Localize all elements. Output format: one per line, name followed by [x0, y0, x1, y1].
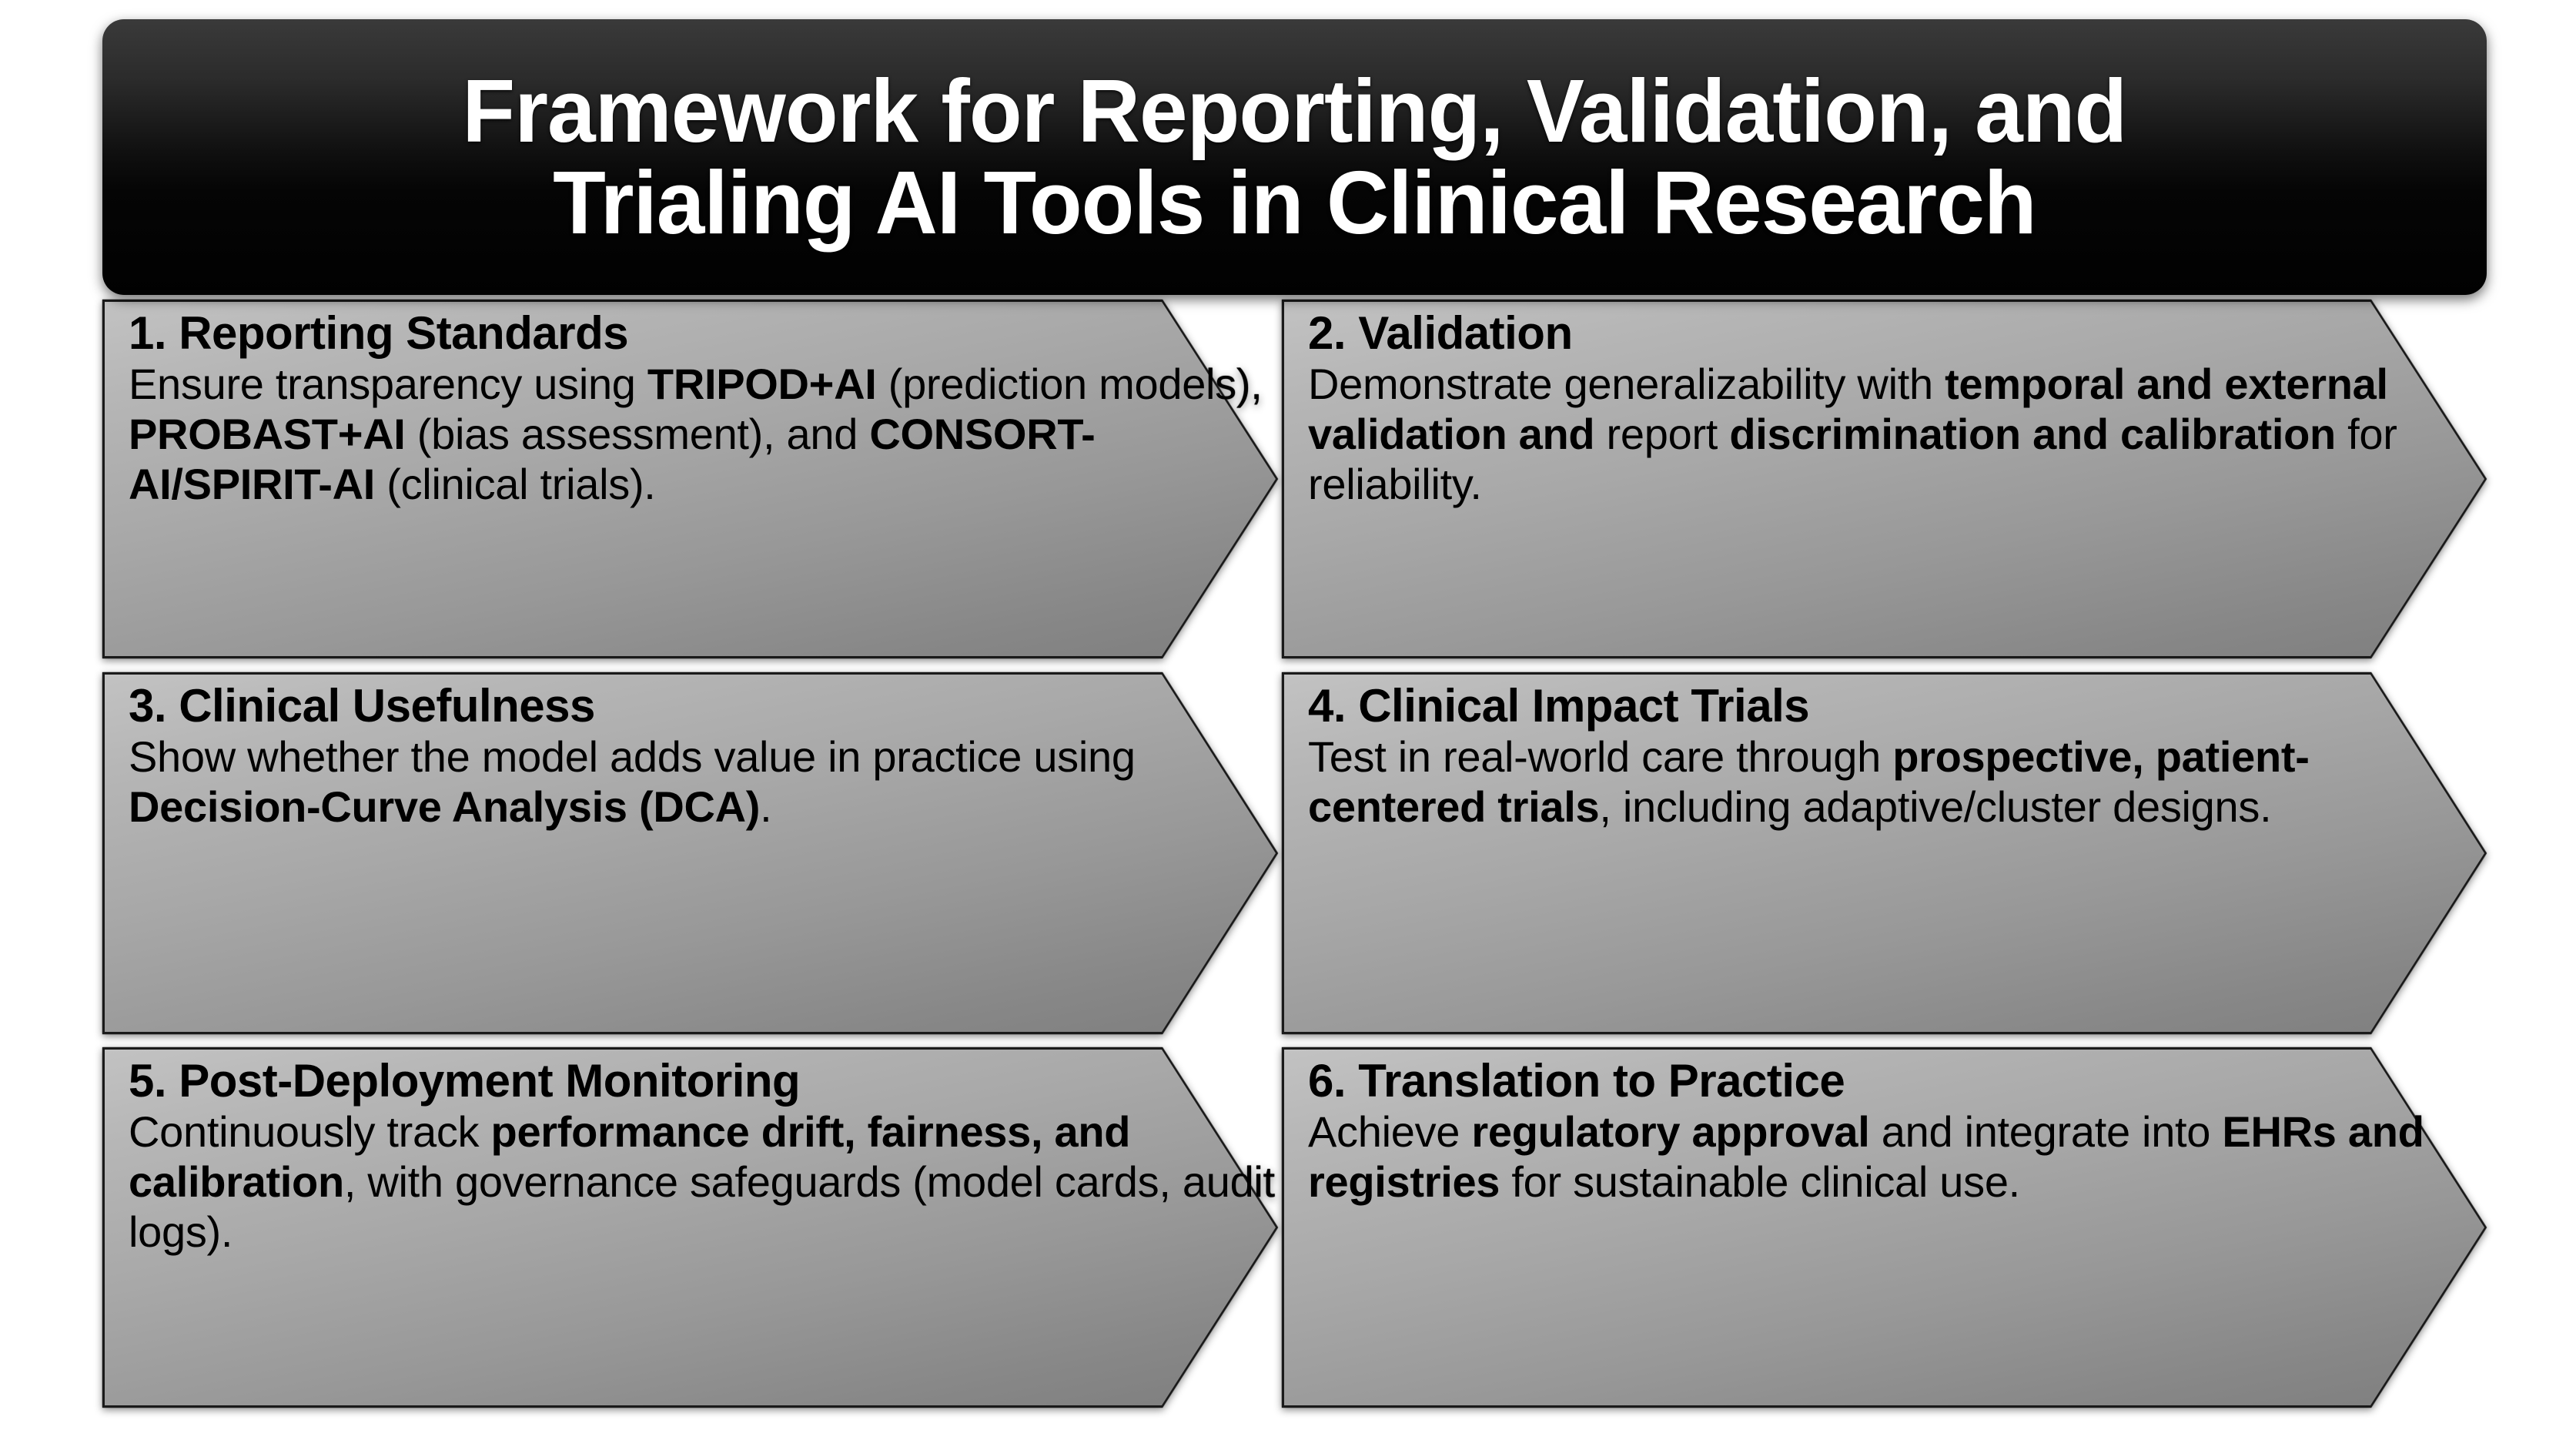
- step-card-1-content: 1. Reporting Standards Ensure transparen…: [102, 300, 1278, 658]
- step-card-5-heading: 5. Post-Deployment Monitoring: [129, 1057, 1278, 1106]
- step-card-1-body: Ensure transparency using TRIPOD+AI (pre…: [129, 360, 1278, 510]
- step-card-6[interactable]: 6. Translation to Practice Achieve regul…: [1282, 1047, 2487, 1408]
- step-card-2-content: 2. Validation Demonstrate generalizabili…: [1282, 300, 2487, 658]
- step-card-4[interactable]: 4. Clinical Impact Trials Test in real-w…: [1282, 672, 2487, 1034]
- step-card-3-heading: 3. Clinical Usefulness: [129, 681, 1278, 731]
- step-card-1-heading: 1. Reporting Standards: [129, 309, 1278, 358]
- step-card-5-body: Continuously track performance drift, fa…: [129, 1107, 1278, 1257]
- step-card-3-content: 3. Clinical Usefulness Show whether the …: [102, 672, 1278, 1034]
- step-card-6-heading: 6. Translation to Practice: [1308, 1057, 2487, 1106]
- page-title: Framework for Reporting, Validation, and…: [463, 65, 2127, 249]
- step-card-6-content: 6. Translation to Practice Achieve regul…: [1282, 1047, 2487, 1408]
- framework-title-banner: Framework for Reporting, Validation, and…: [102, 19, 2487, 295]
- step-card-4-body: Test in real-world care through prospect…: [1308, 732, 2487, 832]
- step-card-5[interactable]: 5. Post-Deployment Monitoring Continuous…: [102, 1047, 1278, 1408]
- step-card-3[interactable]: 3. Clinical Usefulness Show whether the …: [102, 672, 1278, 1034]
- step-card-3-body: Show whether the model adds value in pra…: [129, 732, 1278, 832]
- step-card-5-content: 5. Post-Deployment Monitoring Continuous…: [102, 1047, 1278, 1408]
- step-card-2[interactable]: 2. Validation Demonstrate generalizabili…: [1282, 300, 2487, 658]
- step-card-4-heading: 4. Clinical Impact Trials: [1308, 681, 2487, 731]
- step-card-2-heading: 2. Validation: [1308, 309, 2487, 358]
- step-card-1[interactable]: 1. Reporting Standards Ensure transparen…: [102, 300, 1278, 658]
- step-card-2-body: Demonstrate generalizability with tempor…: [1308, 360, 2487, 510]
- step-card-6-body: Achieve regulatory approval and integrat…: [1308, 1107, 2487, 1207]
- step-card-4-content: 4. Clinical Impact Trials Test in real-w…: [1282, 672, 2487, 1034]
